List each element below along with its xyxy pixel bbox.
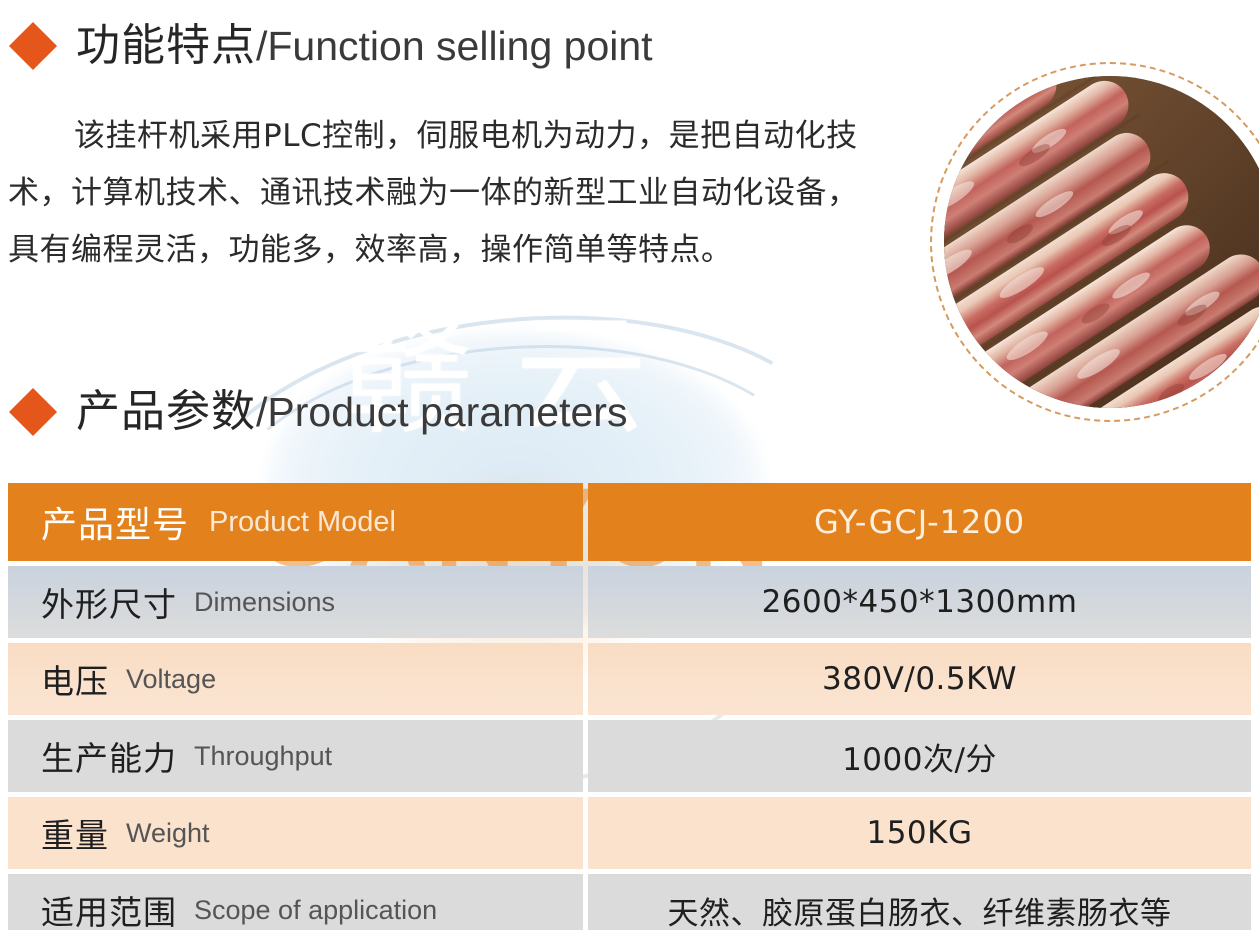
value-text: 380V/0.5KW <box>822 661 1017 697</box>
value-text: 2600*450*1300mm <box>762 584 1078 620</box>
label-cn: 电压 <box>41 655 109 703</box>
label-en: Voltage <box>126 664 216 695</box>
label-cn: 重量 <box>41 809 109 857</box>
table-cell-label: 适用范围 Scope of application <box>8 874 583 930</box>
heading-params-text: 产品参数/Product parameters <box>76 390 627 434</box>
value-text: GY-GCJ-1200 <box>814 503 1025 541</box>
product-photo <box>930 62 1259 428</box>
photo-circle-mask <box>944 76 1259 408</box>
table-cell-value: 1000次/分 <box>588 720 1251 792</box>
table-row: 电压 Voltage 380V/0.5KW <box>8 643 1251 715</box>
diamond-bullet-icon <box>9 22 57 70</box>
heading-params-cn: 产品参数 <box>76 386 256 437</box>
table-cell-label: 生产能力 Throughput <box>8 720 583 792</box>
table-row: 适用范围 Scope of application 天然、胶原蛋白肠衣、纤维素肠… <box>8 874 1251 930</box>
table-cell-value: 2600*450*1300mm <box>588 566 1251 638</box>
table-row: 重量 Weight 150KG <box>8 797 1251 869</box>
table-row: 生产能力 Throughput 1000次/分 <box>8 720 1251 792</box>
label-cn: 产品型号 <box>41 496 189 548</box>
table-cell-label: 产品型号 Product Model <box>8 483 583 561</box>
label-en: Dimensions <box>194 587 335 618</box>
table-cell-label: 电压 Voltage <box>8 643 583 715</box>
table-cell-label: 重量 Weight <box>8 797 583 869</box>
table-cell-value: GY-GCJ-1200 <box>588 483 1251 561</box>
label-en: Product Model <box>209 506 396 539</box>
value-text: 天然、胶原蛋白肠衣、纤维素肠衣等 <box>668 888 1172 930</box>
heading-function-cn: 功能特点 <box>76 20 256 71</box>
heading-function-text: 功能特点/Function selling point <box>76 24 653 68</box>
sausages-illustration <box>944 76 1259 408</box>
table-cell-value: 380V/0.5KW <box>588 643 1251 715</box>
label-cn: 生产能力 <box>41 732 177 780</box>
table-cell-label: 外形尺寸 Dimensions <box>8 566 583 638</box>
table-cell-value: 150KG <box>588 797 1251 869</box>
table-row: 外形尺寸 Dimensions 2600*450*1300mm <box>8 566 1251 638</box>
function-description-paragraph: 该挂杆机采用PLC控制，伺服电机为动力，是把自动化技术，计算机技术、通讯技术融为… <box>8 108 888 279</box>
label-en: Scope of application <box>194 895 437 926</box>
diamond-bullet-icon <box>9 388 57 436</box>
label-cn: 外形尺寸 <box>41 578 177 626</box>
heading-function-en: /Function selling point <box>256 23 653 69</box>
table-cell-value: 天然、胶原蛋白肠衣、纤维素肠衣等 <box>588 874 1251 930</box>
value-text: 1000次/分 <box>842 734 997 779</box>
label-en: Weight <box>126 818 210 849</box>
product-parameters-table: 产品型号 Product Model GY-GCJ-1200 外形尺寸 Dime… <box>8 483 1251 930</box>
heading-function-selling-point: 功能特点/Function selling point <box>16 24 653 68</box>
product-spec-page: 赣云 GANYUN 功能特点/Function selling point 该挂… <box>0 0 1259 930</box>
label-en: Throughput <box>194 741 332 772</box>
value-text: 150KG <box>866 815 972 851</box>
label-cn: 适用范围 <box>41 886 177 930</box>
heading-params-en: /Product parameters <box>256 389 627 435</box>
heading-product-parameters: 产品参数/Product parameters <box>16 390 627 434</box>
table-row: 产品型号 Product Model GY-GCJ-1200 <box>8 483 1251 561</box>
